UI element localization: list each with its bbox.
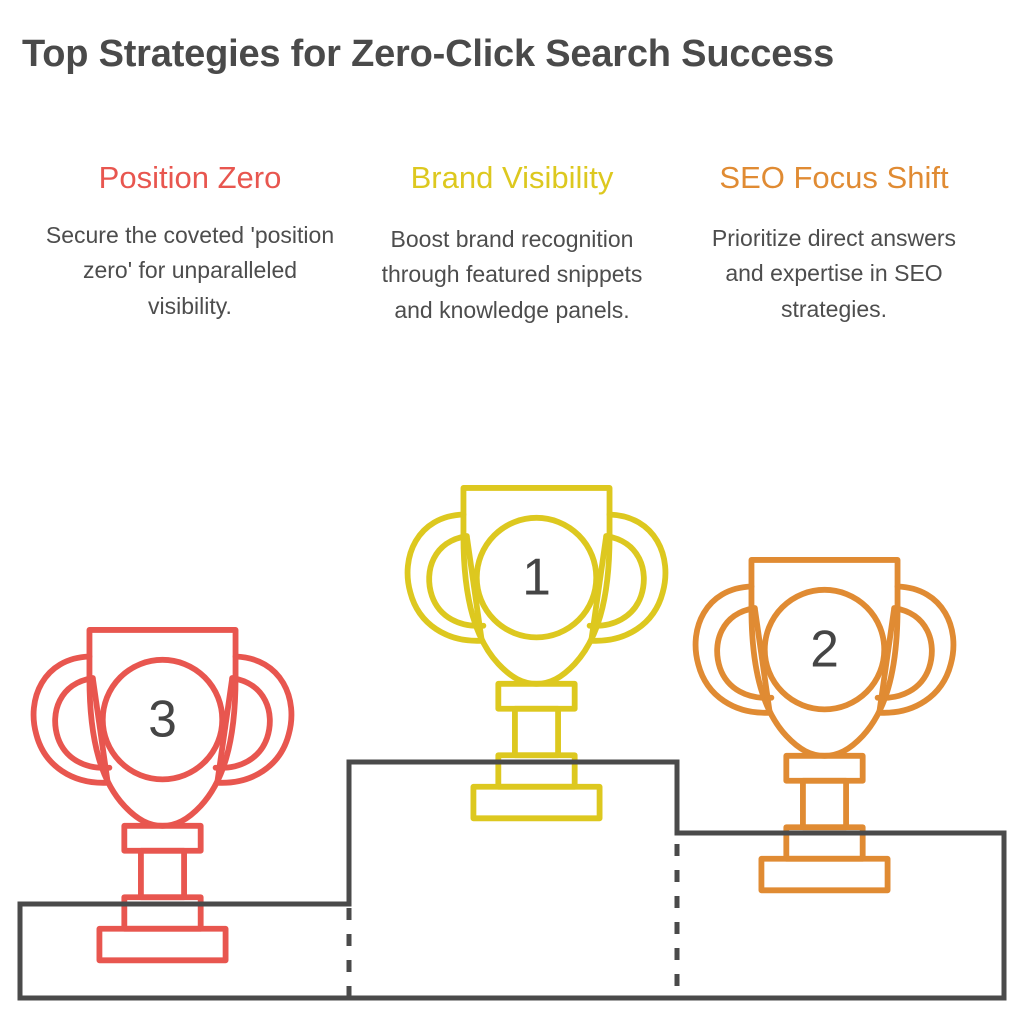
trophy-rank-1: 1 — [408, 488, 666, 818]
trophy-rank-2: 2 — [696, 560, 954, 890]
podium-dividers — [349, 766, 677, 996]
trophy-rank-label-3: 3 — [148, 690, 177, 748]
trophy-rank-label-2: 2 — [810, 620, 839, 678]
podium-illustration: 3 1 2 — [0, 0, 1024, 1021]
infographic-canvas: Top Strategies for Zero-Click Search Suc… — [0, 0, 1024, 1021]
trophy-rank-label-1: 1 — [522, 548, 551, 606]
trophy-rank-3: 3 — [34, 630, 292, 960]
